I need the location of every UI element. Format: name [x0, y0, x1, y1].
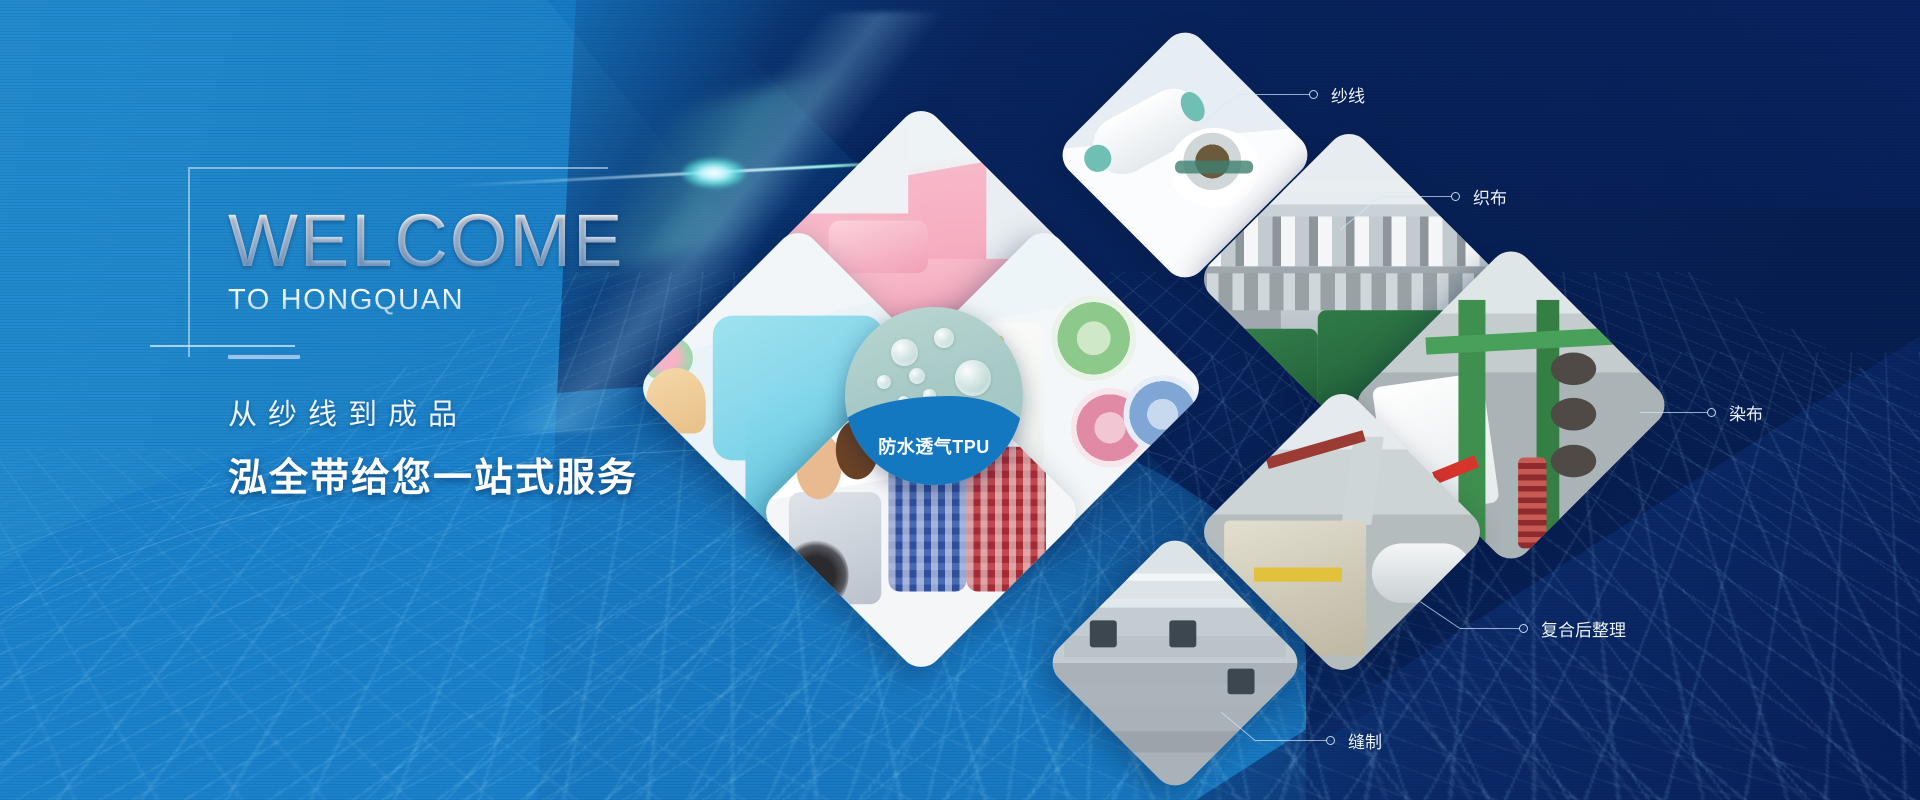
- callout-lamination[interactable]: 复合后整理: [1460, 616, 1626, 641]
- water-drop-icon: [955, 360, 991, 396]
- callout-dot-icon: [1707, 408, 1716, 417]
- bottom-accent-rule: [150, 345, 295, 347]
- callout-dot-icon: [1519, 624, 1528, 633]
- decorative-bracket: [188, 167, 608, 357]
- callout-label: 染布: [1729, 400, 1763, 425]
- tpu-badge-label: 防水透气TPU: [845, 433, 1023, 459]
- banner-stage: WELCOME TO HONGQUAN 从纱线到成品 泓全带给您一站式服务: [0, 0, 1920, 800]
- callout-dot-icon: [1451, 192, 1460, 201]
- water-drop-icon: [909, 368, 925, 384]
- callout-label: 纱线: [1331, 82, 1365, 107]
- callout-connector: [1640, 412, 1708, 413]
- callout-connector: [1238, 94, 1310, 95]
- callout-label: 缝制: [1348, 728, 1382, 753]
- callout-sewing[interactable]: 缝制: [1255, 728, 1382, 753]
- callout-connector: [1255, 740, 1327, 741]
- callout-label: 织布: [1473, 184, 1507, 209]
- callout-dot-icon: [1309, 90, 1318, 99]
- water-drop-icon: [934, 328, 954, 348]
- callout-connector: [1460, 628, 1520, 629]
- water-drop-icon: [891, 339, 918, 366]
- tpu-badge[interactable]: 防水透气TPU: [845, 307, 1023, 485]
- water-drop-icon: [877, 375, 891, 389]
- callout-weave[interactable]: 织布: [1380, 184, 1507, 209]
- callout-yarn[interactable]: 纱线: [1238, 82, 1365, 107]
- callout-dot-icon: [1326, 736, 1335, 745]
- callout-dye[interactable]: 染布: [1640, 400, 1763, 425]
- callout-connector: [1380, 196, 1452, 197]
- callout-label: 复合后整理: [1541, 616, 1626, 641]
